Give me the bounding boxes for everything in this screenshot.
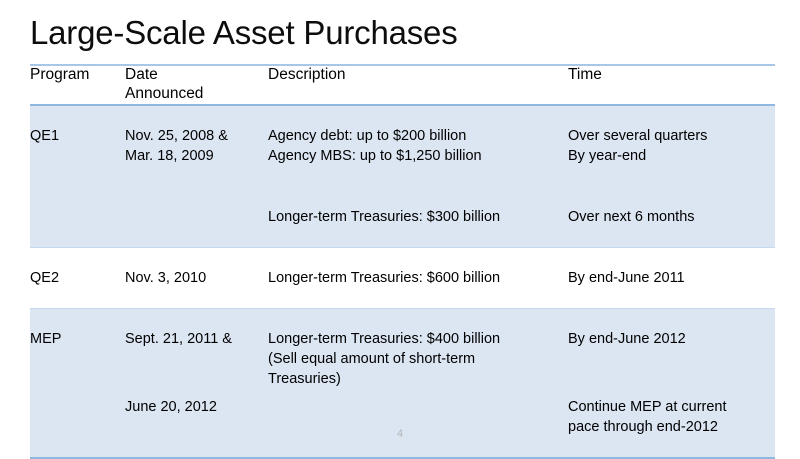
column-header-description-line-1: Description [268,66,568,85]
cell-qe2-program: QE2 [30,247,125,308]
qe1-program-value: QE1 [30,126,125,146]
column-header-program-line-1: Program [30,66,125,85]
column-header-time-line-1: Time [568,66,775,85]
table-row-qe2: QE2 Nov. 3, 2010 Longer-term Treasuries:… [30,247,775,308]
mep-date-block-2: June 20, 2012 [125,397,268,417]
cell-qe2-date: Nov. 3, 2010 [125,247,268,308]
column-header-time: Time [568,65,775,105]
mep-description-block-1: Longer-term Treasuries: $400 billion (Se… [268,329,568,389]
cell-qe1-date: Nov. 25, 2008 & Mar. 18, 2009 [125,105,268,248]
cell-qe1-program: QE1 [30,105,125,248]
column-header-date-line-2: Announced [125,85,268,104]
page-title: Large-Scale Asset Purchases [30,14,458,53]
cell-qe1-time: Over several quarters By year-end Over n… [568,105,775,248]
column-header-date-line-1: Date [125,66,268,85]
cell-qe2-description: Longer-term Treasuries: $600 billion [268,247,568,308]
mep-time-block-1: By end-June 2012 [568,329,775,349]
table-row-qe1: QE1 Nov. 25, 2008 & Mar. 18, 2009 Agency… [30,105,775,248]
column-header-date-announced: Date Announced [125,65,268,105]
qe1-description-block-1: Agency debt: up to $200 billion Agency M… [268,126,568,166]
qe1-date-block-1: Nov. 25, 2008 & Mar. 18, 2009 [125,126,268,166]
qe2-date-block-1: Nov. 3, 2010 [125,268,268,288]
table-header-row: Program Date Announced Description Time [30,65,775,105]
qe1-time-block-2: Over next 6 months [568,207,775,227]
mep-date-block-1: Sept. 21, 2011 & [125,329,268,349]
qe1-description-block-2: Longer-term Treasuries: $300 billion [268,207,568,227]
column-header-program: Program [30,65,125,105]
column-header-description: Description [268,65,568,105]
qe2-program-value: QE2 [30,268,125,288]
asset-purchases-table: Program Date Announced Description Time … [30,64,775,459]
cell-qe1-description: Agency debt: up to $200 billion Agency M… [268,105,568,248]
qe2-description-block-1: Longer-term Treasuries: $600 billion [268,268,568,288]
mep-program-value: MEP [30,329,125,349]
qe2-time-block-1: By end-June 2011 [568,268,775,288]
cell-qe2-time: By end-June 2011 [568,247,775,308]
qe1-time-block-1: Over several quarters By year-end [568,126,775,166]
slide-page-number: 4 [0,428,800,440]
